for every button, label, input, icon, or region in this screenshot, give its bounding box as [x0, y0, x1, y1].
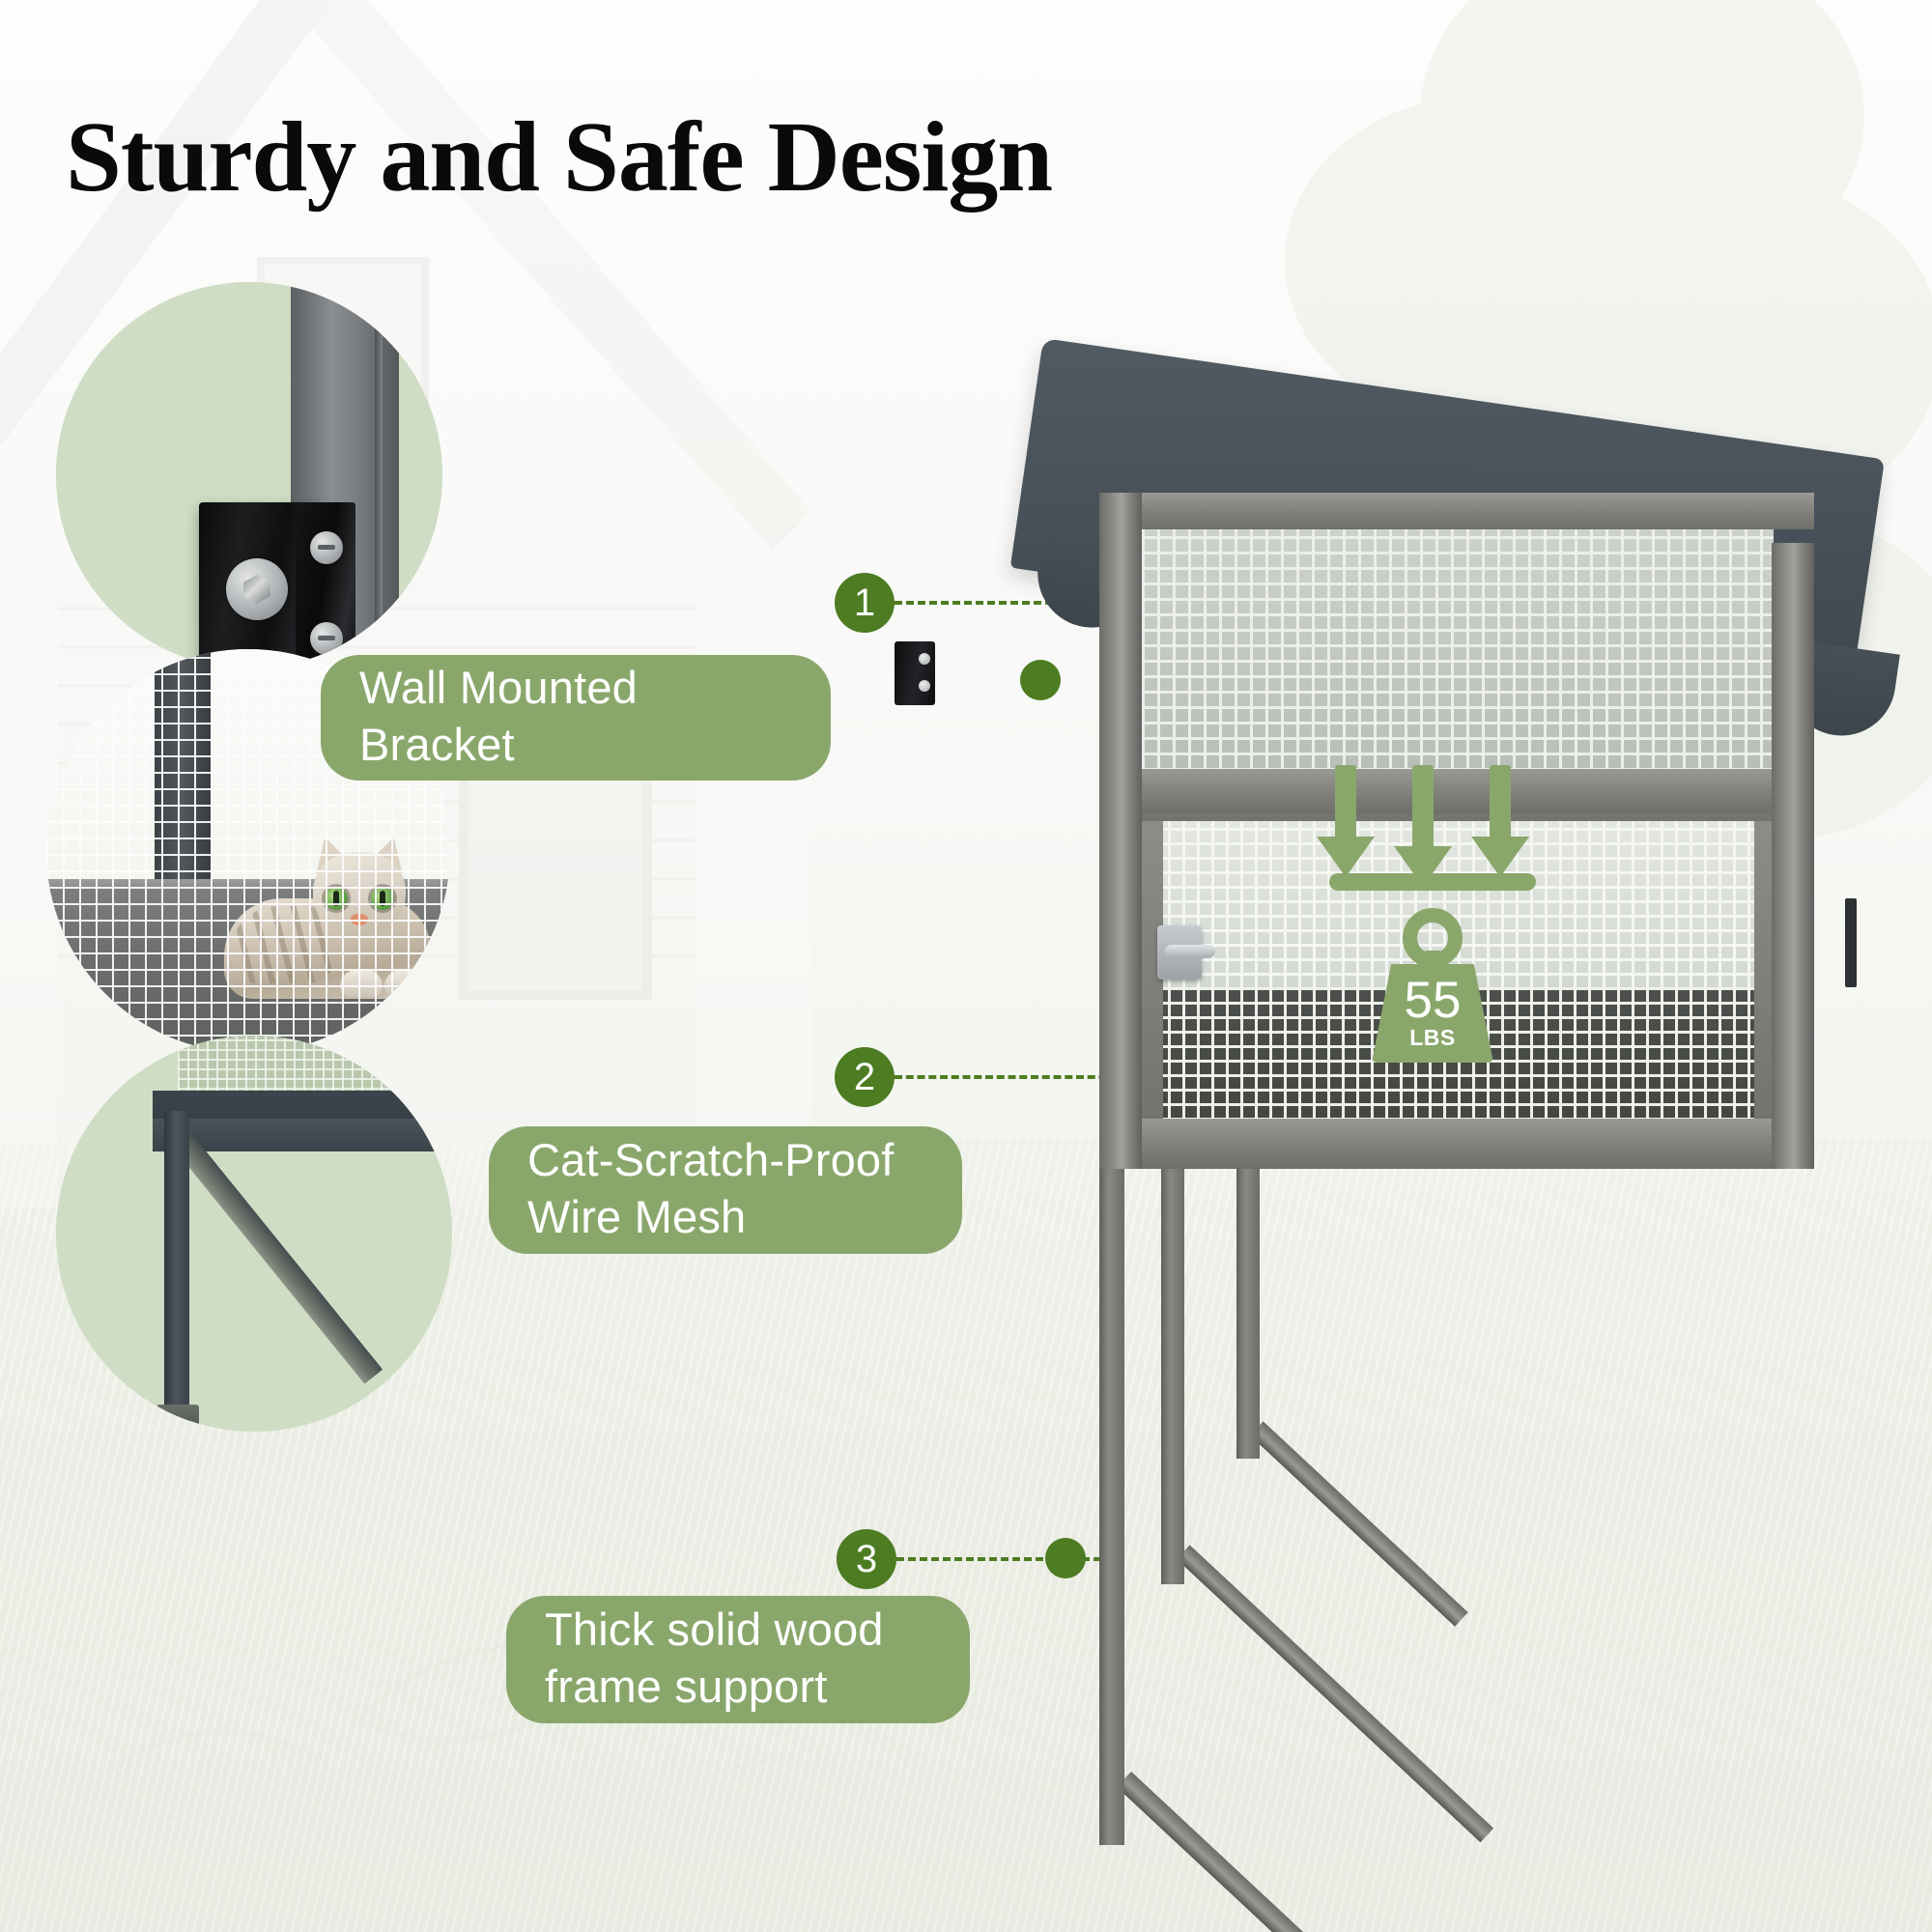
product-illustration-catio — [1024, 348, 1922, 1855]
number-badge-1[interactable]: 1 — [835, 573, 895, 633]
badge-2-number: 2 — [854, 1058, 875, 1096]
callout-pill-1: Wall Mounted Bracket — [321, 655, 831, 781]
door-latch[interactable] — [1157, 925, 1202, 980]
vertical-leg-middle — [1161, 1169, 1184, 1584]
wall-mounted-bracket-on-product — [895, 641, 935, 705]
support-leg-assembly — [1099, 1169, 1833, 1845]
badge-1-number: 1 — [854, 583, 875, 622]
diagonal-brace-inner — [1250, 1421, 1468, 1626]
number-badge-3[interactable]: 3 — [837, 1529, 896, 1589]
infographic-canvas: Sturdy and Safe Design — [0, 0, 1932, 1932]
diagonal-brace-middle — [1177, 1545, 1493, 1842]
inset1-hex-bolt — [226, 558, 288, 620]
bottom-rail — [1099, 1119, 1814, 1169]
top-rail — [1099, 493, 1814, 529]
callout-pill-3: Thick solid wood frame support — [506, 1596, 970, 1723]
load-arrow-2-shaft — [1412, 765, 1434, 858]
callout-2-line2: Wire Mesh — [527, 1188, 895, 1245]
weight-capacity-graphic: 55 LBS — [1312, 765, 1534, 1045]
vertical-leg-outer — [1099, 1169, 1124, 1845]
load-arrow-3-head — [1471, 837, 1529, 877]
inset-photo-wood-frame-support — [56, 1036, 452, 1432]
inset1-screw-upper — [310, 531, 343, 564]
upper-wire-mesh-panel — [1142, 512, 1774, 771]
vertical-leg-inner — [1236, 1169, 1260, 1459]
callout-1-line2: Bracket — [359, 716, 638, 773]
door-hinge-icon — [1845, 898, 1857, 987]
weight-unit: LBS — [1409, 1026, 1456, 1050]
inset3-foot-joint — [156, 1405, 199, 1432]
load-arrow-1-head — [1317, 837, 1375, 877]
inset3-vertical-leg — [164, 1111, 189, 1430]
callout-3-line1: Thick solid wood — [545, 1601, 884, 1658]
weight-value: 55 — [1405, 977, 1462, 1025]
right-post — [1772, 543, 1814, 1169]
inset3-hinge-icon — [423, 1051, 432, 1109]
badge-3-number: 3 — [856, 1540, 877, 1578]
load-surface-bar — [1329, 873, 1536, 891]
callout-2-line1: Cat-Scratch-Proof — [527, 1131, 895, 1188]
weight-block-icon: 55 LBS — [1372, 964, 1493, 1063]
callout-1-line1: Wall Mounted — [359, 659, 638, 716]
page-title: Sturdy and Safe Design — [66, 104, 1052, 210]
inset-photo-wall-mounted-bracket — [56, 282, 442, 668]
left-post — [1099, 493, 1142, 1169]
callout-pill-2: Cat-Scratch-Proof Wire Mesh — [489, 1126, 962, 1254]
callout-3-line2: frame support — [545, 1658, 884, 1715]
inset1-post-edge — [375, 282, 383, 668]
number-badge-2[interactable]: 2 — [835, 1047, 895, 1107]
